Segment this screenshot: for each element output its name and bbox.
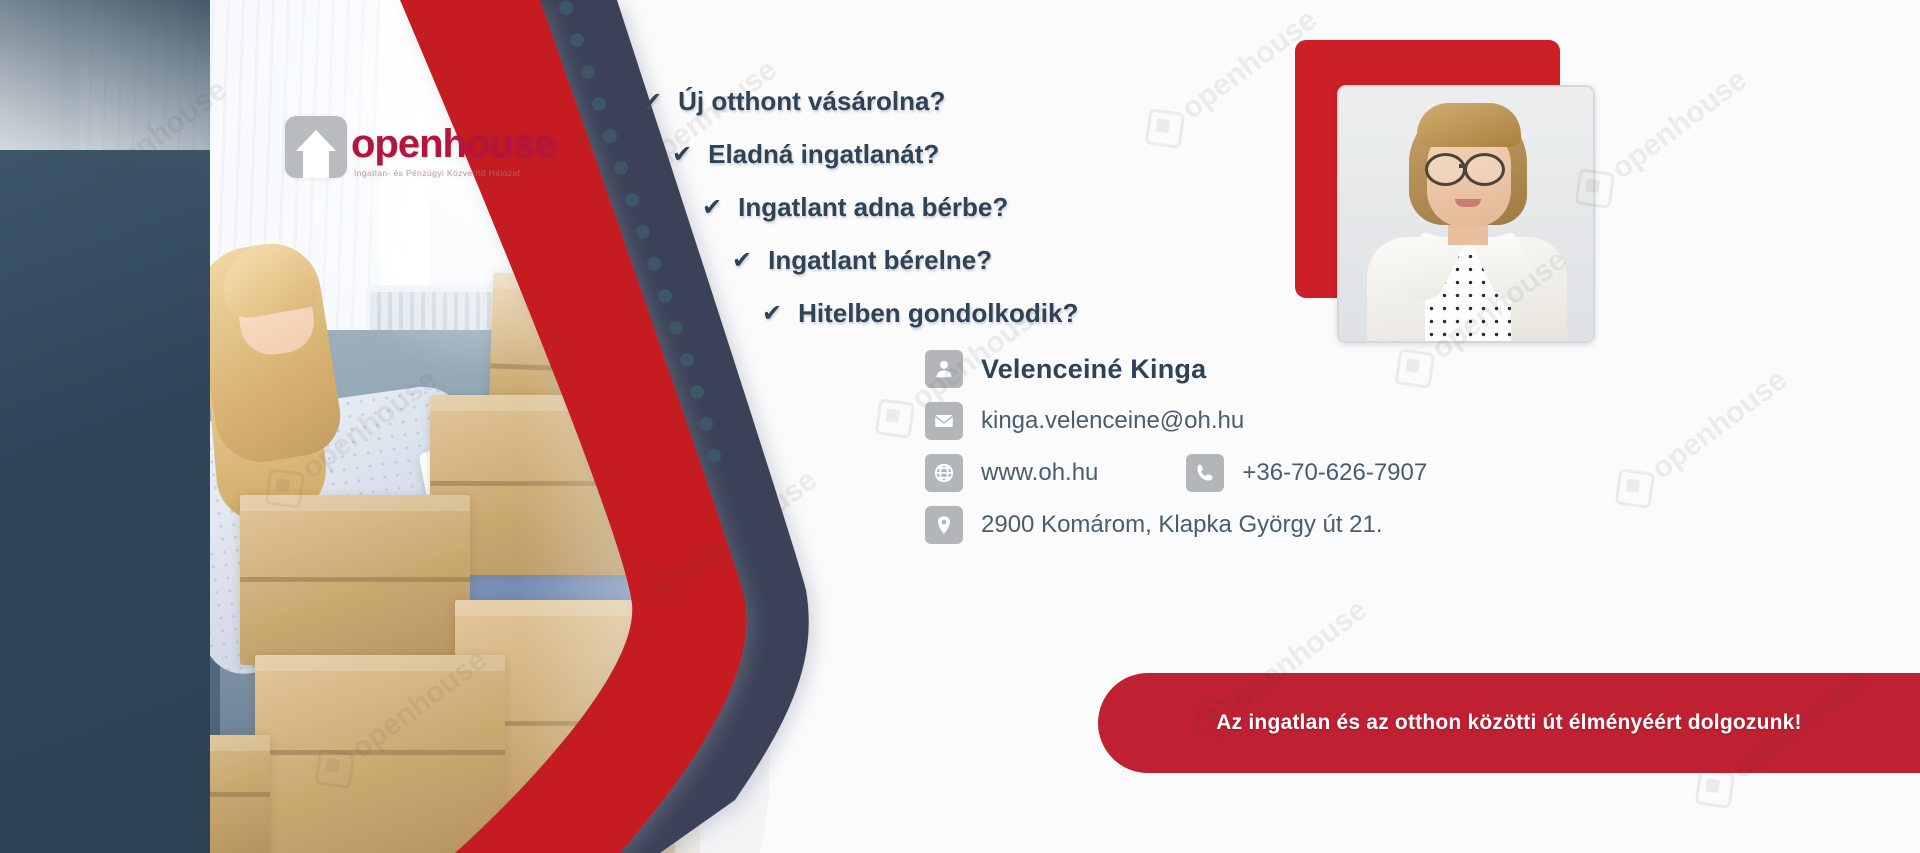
check-icon: ✔ [702,193,722,222]
checklist-label: Új otthont vásárolna? [678,86,945,117]
agent-phone[interactable]: +36-70-626-7907 [1242,459,1427,487]
contact-row-address: 2900 Komárom, Klapka György út 21. [925,506,1427,544]
portrait-glasses-right [1464,153,1505,186]
checklist-label: Eladná ingatlanát? [708,139,939,170]
logo-word-house: house [443,122,556,166]
openhouse-logo: openhouse Ingatlan- és Pénzügyi Közvetít… [285,112,555,178]
website-group[interactable]: www.oh.hu [925,454,1098,492]
portrait-glasses-bridge [1459,164,1467,168]
checklist-label: Ingatlant adna bérbe? [738,192,1008,223]
envelope-icon [925,402,963,440]
check-icon: ✔ [732,246,752,275]
slogan-banner: Az ingatlan és az otthon közötti út élmé… [1098,673,1920,773]
person-icon [925,350,963,388]
portrait-bangs [1417,103,1521,147]
checklist-item-rent-out: ✔ Ingatlant adna bérbe? [702,192,1100,223]
services-checklist: ✔ Új otthont vásárolna? ✔ Eladná ingatla… [630,86,1100,351]
logo-wordmark: openhouse [351,124,555,164]
agent-portrait-block [1295,40,1595,340]
checklist-item-loan: ✔ Hitelben gondolkodik? [762,298,1100,329]
check-icon: ✔ [762,299,782,328]
checklist-item-buy: ✔ Új otthont vásárolna? [642,86,1100,117]
contact-row-email[interactable]: kinga.velenceine@oh.hu [925,402,1427,440]
contact-row-name: Velenceiné Kinga [925,350,1427,388]
location-pin-icon [925,506,963,544]
agent-name: Velenceiné Kinga [981,354,1206,385]
openhouse-agent-banner: openhouse Ingatlan- és Pénzügyi Közvetít… [0,0,1920,853]
checklist-item-rent: ✔ Ingatlant bérelne? [732,245,1100,276]
logo-tagline: Ingatlan- és Pénzügyi Közvetítő Hálózat [354,168,555,178]
house-logo-icon [285,116,347,178]
agent-contact-block: Velenceiné Kinga kinga.velenceine@oh.hu [925,350,1427,558]
phone-icon [1186,454,1224,492]
check-icon: ✔ [672,140,692,169]
slogan-text: Az ingatlan és az otthon közötti út élmé… [1216,711,1801,735]
checklist-label: Hitelben gondolkodik? [798,298,1078,329]
checklist-label: Ingatlant bérelne? [768,245,992,276]
checklist-item-sell: ✔ Eladná ingatlanát? [672,139,1100,170]
agent-portrait [1337,85,1595,343]
phone-group[interactable]: +36-70-626-7907 [1186,454,1427,492]
agent-website[interactable]: www.oh.hu [981,459,1098,487]
check-icon: ✔ [642,87,662,116]
globe-icon [925,454,963,492]
logo-word-open: open [351,122,443,166]
logo-text: openhouse Ingatlan- és Pénzügyi Közvetít… [351,112,555,178]
contact-row-web-phone: www.oh.hu +36-70-626-7907 [925,454,1427,492]
agent-address: 2900 Komárom, Klapka György út 21. [981,511,1383,539]
portrait-glasses-left [1425,153,1466,186]
agent-email[interactable]: kinga.velenceine@oh.hu [981,407,1244,435]
portrait-smile [1455,199,1481,207]
